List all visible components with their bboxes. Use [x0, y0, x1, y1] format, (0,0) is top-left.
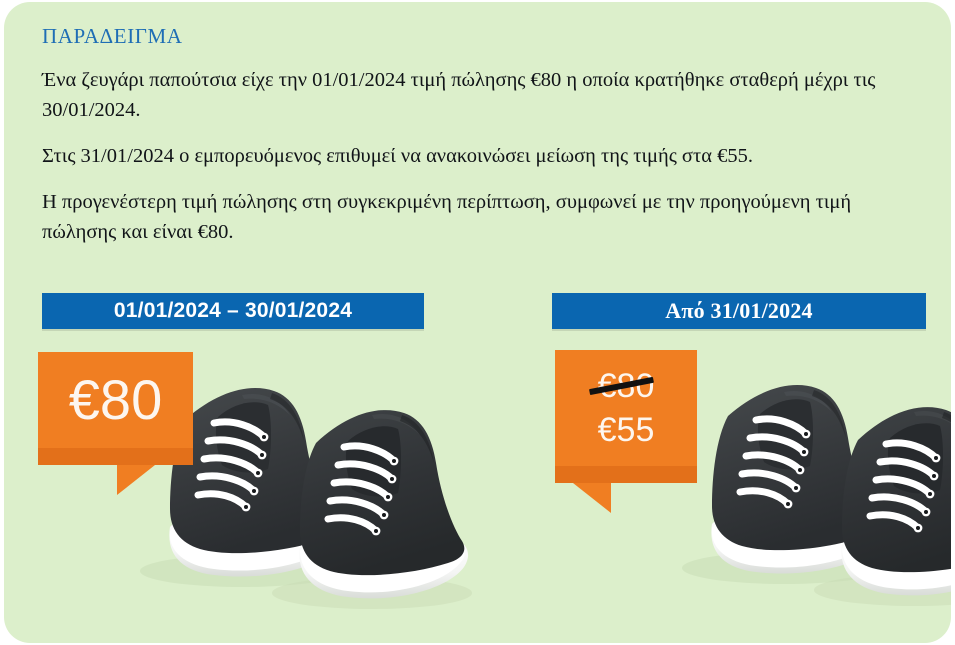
date-banner-after-label: Από 31/01/2024: [665, 298, 812, 324]
price-tag-after-tail: [555, 466, 697, 512]
paragraph-3: Η προγενέστερη τιμή πώλησης στη συγκεκρι…: [42, 187, 922, 247]
tail-bar-icon: [38, 448, 193, 465]
price-tag-before-body: €80: [38, 352, 193, 448]
price-tag-before: €80: [38, 352, 193, 494]
price-tag-after: €80 €55: [555, 350, 697, 512]
price-value-after: €55: [598, 413, 655, 447]
tail-point-icon: [573, 483, 611, 513]
example-text-block: ΠΑΡΑΔΕΙΓΜΑ Ένα ζευγάρι παπούτσια είχε τη…: [42, 24, 922, 247]
price-value-before: €80: [69, 372, 162, 428]
date-banner-after: Από 31/01/2024: [552, 293, 926, 329]
product-image-sneakers-after: [664, 354, 951, 627]
column-after-reduction: Από 31/01/2024: [552, 293, 926, 329]
paragraph-2: Στις 31/01/2024 ο εμπορευόμενος επιθυμεί…: [42, 141, 922, 171]
paragraph-1: Ένα ζευγάρι παπούτσια είχε την 01/01/202…: [42, 65, 922, 125]
tail-bar-icon: [555, 466, 697, 483]
page-title: ΠΑΡΑΔΕΙΓΜΑ: [42, 24, 922, 49]
example-panel: ΠΑΡΑΔΕΙΓΜΑ Ένα ζευγάρι παπούτσια είχε τη…: [4, 2, 951, 643]
old-price-wrapper: €80: [598, 369, 655, 403]
tail-point-icon: [117, 465, 155, 495]
date-banner-before: 01/01/2024 – 30/01/2024: [42, 293, 424, 329]
column-before-reduction: 01/01/2024 – 30/01/2024: [42, 293, 424, 329]
price-tag-after-body: €80 €55: [555, 350, 697, 466]
date-banner-before-label: 01/01/2024 – 30/01/2024: [114, 299, 352, 323]
price-tag-before-tail: [38, 448, 193, 494]
